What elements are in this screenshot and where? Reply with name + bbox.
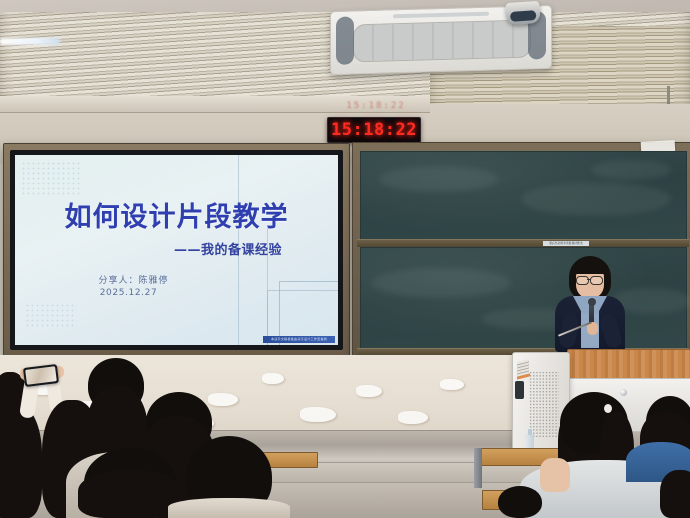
classroom-photo: 15:18:22 15:18:22 如何设计片段教学 ——我的备课经验 分享人：… [0, 0, 690, 518]
projector-screen-frame: 如何设计片段教学 ——我的备课经验 分享人：陈雅停 2025.12.27 本演示… [3, 143, 350, 357]
lectern-top [567, 349, 690, 381]
phone-screen [25, 366, 57, 385]
ac-grille [353, 19, 531, 62]
screen-bezel: 如何设计片段教学 ——我的备课经验 分享人：陈雅停 2025.12.27 本演示… [10, 150, 343, 350]
audience-head [78, 470, 182, 518]
slide-presenter-line: 分享人：陈雅停 [15, 273, 338, 286]
ceiling-camera-icon [505, 1, 540, 25]
blackboard-notice-label: 课后务必擦净黑板保持整洁 [543, 241, 589, 246]
speaker-mesh [529, 371, 559, 437]
wall-led-clock: 15:18:22 [327, 117, 421, 143]
audience-hand [540, 458, 570, 492]
fluorescent-tube-light [0, 38, 60, 45]
presenter-glasses-bridge [587, 279, 591, 280]
slide-watermark: 本演示文稿模板由演示设计工作室提供 [263, 336, 335, 343]
slide-dot-decoration-top [21, 161, 81, 195]
audience-head [498, 486, 542, 518]
blackboard-panel-upper [360, 151, 687, 241]
audience-shoulders [168, 498, 290, 518]
ac-slot [393, 12, 489, 19]
slide-dot-decoration-bottom [25, 303, 77, 329]
speaker-port [515, 381, 524, 399]
presenter-glasses-right [590, 276, 603, 285]
chalk-rail-upper [357, 239, 689, 247]
ac-vent-left [336, 16, 354, 65]
slide-subtitle: ——我的备课经验 [174, 239, 282, 258]
lectern-knob [620, 389, 627, 396]
presenter-glasses-left [576, 276, 589, 285]
presentation-slide: 如何设计片段教学 ——我的备课经验 分享人：陈雅停 2025.12.27 本演示… [15, 155, 338, 345]
clock-time-text: 15:18:22 [331, 120, 417, 140]
clock-reflection: 15:18:22 [330, 97, 422, 115]
blackboard-panel-lower [360, 247, 687, 349]
presenter-figure [551, 256, 629, 350]
desk-leg [474, 448, 482, 488]
slide-date: 2025.12.27 [15, 288, 338, 298]
audience-head [660, 470, 690, 518]
presenter-fringe [572, 260, 608, 274]
slide-title: 如何设计片段教学 [15, 195, 338, 234]
blackboard-frame: 课后务必擦净黑板保持整洁 [352, 142, 690, 359]
